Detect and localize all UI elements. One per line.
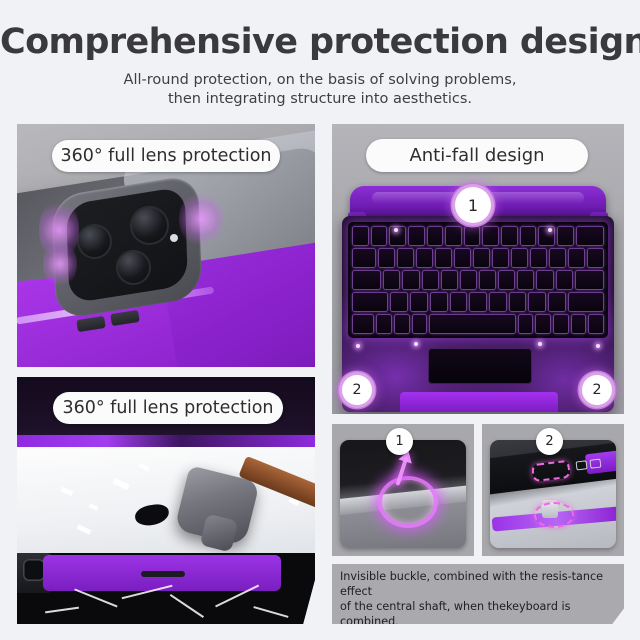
panel-lens-protection-bottom: 360° full lens protection	[17, 377, 315, 624]
glow-dot	[538, 342, 542, 346]
page-title: Comprehensive protection design	[0, 0, 640, 62]
key	[464, 226, 481, 246]
caption-line-1: Invisible buckle, combined with the resi…	[340, 570, 614, 600]
key	[390, 292, 408, 312]
keyboard-row-shift	[352, 292, 604, 312]
keyboard-front-bar	[400, 392, 558, 412]
keyboard-row-qwerty	[352, 248, 604, 268]
key	[397, 248, 414, 268]
key	[517, 270, 534, 290]
page-subtitle: All-round protection, on the basis of so…	[0, 62, 640, 109]
keyboard-keys-frame	[348, 222, 608, 338]
key	[568, 248, 585, 268]
key	[441, 270, 458, 290]
glow-dot	[394, 228, 398, 232]
key	[445, 226, 462, 246]
key	[460, 270, 477, 290]
key	[378, 248, 395, 268]
key	[492, 248, 509, 268]
invisible-buckle-photo	[490, 440, 616, 548]
callout-badge-2-left: 2	[342, 375, 372, 405]
key	[454, 248, 471, 268]
glow-dot	[548, 228, 552, 232]
callout-badge-1: 1	[455, 187, 491, 223]
key	[501, 226, 518, 246]
case-camera-cutout	[23, 559, 45, 581]
key-enter	[575, 270, 604, 290]
central-shaft-photo	[340, 440, 466, 548]
trackpad	[428, 348, 532, 384]
key	[536, 270, 553, 290]
keyboard-row-home	[352, 270, 604, 290]
key	[416, 248, 433, 268]
subtitle-line-1: All-round protection, on the basis of so…	[124, 72, 517, 88]
caption-block: Invisible buckle, combined with the resi…	[332, 564, 624, 624]
detail-badge-2: 2	[536, 428, 563, 455]
keyboard-row-space	[352, 314, 604, 334]
key	[479, 270, 496, 290]
key-space	[429, 314, 516, 334]
key-cmd-right	[518, 314, 534, 334]
keyboard-base	[342, 216, 614, 412]
key-arrow-updown	[571, 314, 587, 334]
key	[489, 292, 507, 312]
port-icon	[589, 459, 601, 469]
key	[352, 226, 369, 246]
key-arrow-right	[588, 314, 604, 334]
glow-dot	[356, 344, 360, 348]
key-shift-left	[352, 292, 388, 312]
key	[498, 270, 515, 290]
keyboard-row-number	[352, 226, 604, 246]
key-tab	[352, 248, 376, 268]
key	[511, 248, 528, 268]
subtitle-line-2: then integrating structure into aestheti…	[168, 91, 472, 107]
key-arrow-left	[553, 314, 569, 334]
panel-detail-central-shaft: 1	[332, 424, 474, 556]
case-slot	[141, 571, 185, 577]
camera-flash	[170, 234, 178, 242]
caption-line-3: it is not easy to fall. off due to the w…	[340, 630, 614, 640]
panel-lens-protection-top: 360° full lens protection	[17, 124, 315, 367]
key	[435, 248, 452, 268]
key	[408, 226, 425, 246]
caption-line-2: of the central shaft, when thekeyboard i…	[340, 600, 614, 630]
key	[557, 226, 574, 246]
label-anti-fall-design: Anti-fall design	[366, 139, 588, 172]
key	[556, 270, 573, 290]
key	[450, 292, 468, 312]
key-cmd	[412, 314, 428, 334]
label-lens-protection-top: 360° full lens protection	[52, 140, 280, 172]
shaft-glow-spiral	[378, 476, 438, 528]
key	[410, 292, 428, 312]
key	[473, 248, 490, 268]
key	[520, 226, 537, 246]
key	[422, 270, 439, 290]
key	[482, 226, 499, 246]
key	[587, 248, 604, 268]
key	[402, 270, 419, 290]
label-lens-protection-bottom: 360° full lens protection	[53, 392, 283, 424]
callout-badge-2-right: 2	[582, 375, 612, 405]
detail-badge-1: 1	[386, 428, 413, 455]
key-alt-right	[535, 314, 551, 334]
keyboard-rows	[352, 226, 604, 336]
camera-lens-3	[116, 250, 151, 285]
key-ctrl	[376, 314, 392, 334]
key	[538, 226, 555, 246]
key-fn	[352, 314, 374, 334]
key-alt	[394, 314, 410, 334]
camera-lens-1	[77, 224, 112, 259]
key	[371, 226, 388, 246]
key	[509, 292, 527, 312]
key	[383, 270, 400, 290]
key	[549, 248, 566, 268]
key-backspace	[576, 226, 604, 246]
key	[469, 292, 487, 312]
key	[548, 292, 566, 312]
key-shift-right	[568, 292, 604, 312]
key	[528, 292, 546, 312]
key-capslock	[352, 270, 381, 290]
port-icon	[576, 460, 588, 470]
key	[427, 226, 444, 246]
product-infographic: Comprehensive protection design All-roun…	[0, 0, 640, 640]
highlight-marker-buckle	[534, 502, 574, 528]
header: Comprehensive protection design All-roun…	[0, 0, 640, 109]
key	[530, 248, 547, 268]
panel-anti-fall-design: Anti-fall design 1 2 2	[332, 124, 624, 414]
glow-dot	[596, 344, 600, 348]
scene-white-surface	[17, 447, 315, 559]
panel-detail-invisible-buckle: 2	[482, 424, 624, 556]
glow-dot	[414, 342, 418, 346]
camera-lens-2	[130, 206, 169, 245]
key	[430, 292, 448, 312]
case-purple-rail	[17, 435, 315, 447]
